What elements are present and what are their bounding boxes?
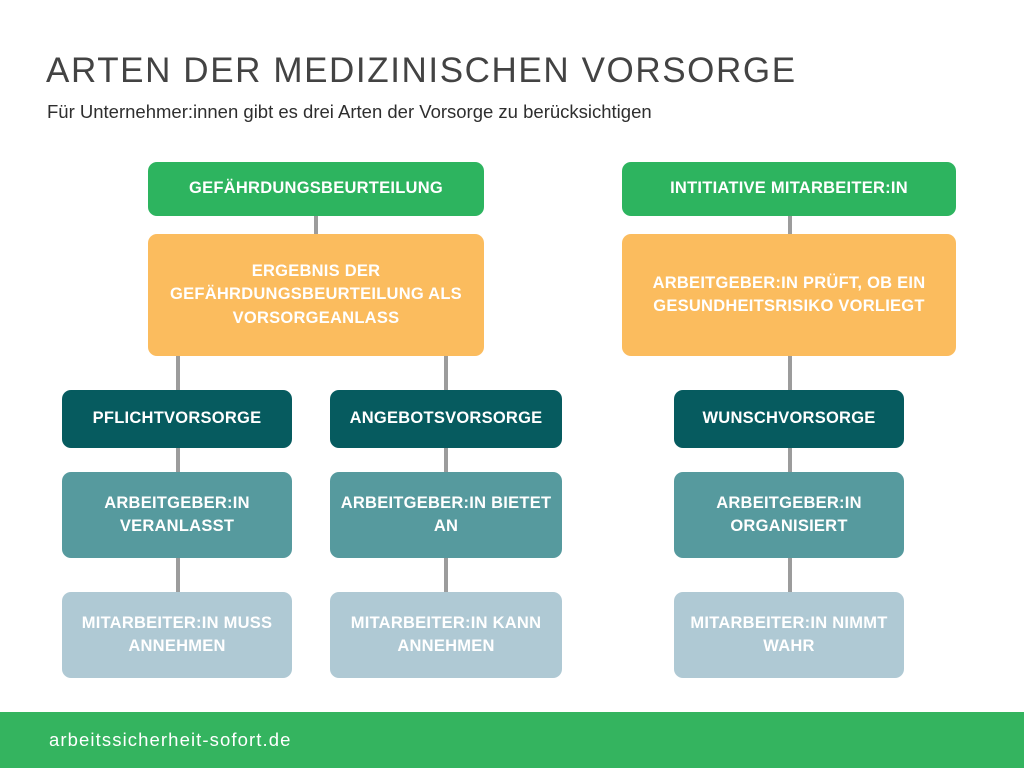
node-mitarbeiter-kann-annehmen[interactable]: MITARBEITER:IN KANN ANNEHMEN bbox=[330, 592, 562, 678]
footer-bar: arbeitssicherheit-sofort.de bbox=[0, 712, 1024, 768]
node-label: ARBEITGEBER:IN ORGANISIERT bbox=[684, 492, 894, 539]
node-arbeitgeber-veranlasst[interactable]: ARBEITGEBER:IN VERANLASST bbox=[62, 472, 292, 558]
node-label: ARBEITGEBER:IN VERANLASST bbox=[72, 492, 282, 539]
connector-arbeitgeber-bietet-an-to-mitarbeiter-kann bbox=[444, 556, 448, 592]
footer-website-label[interactable]: arbeitssicherheit-sofort.de bbox=[49, 729, 292, 751]
infographic-canvas: ARTEN DER MEDIZINISCHEN VORSORGE Für Unt… bbox=[0, 0, 1024, 768]
node-label: MITARBEITER:IN MUSS ANNEHMEN bbox=[72, 612, 282, 659]
node-arbeitgeber-bietet-an[interactable]: ARBEITGEBER:IN BIETET AN bbox=[330, 472, 562, 558]
node-label: GEFÄHRDUNGSBEURTEILUNG bbox=[189, 177, 443, 200]
node-gefaehrdungsbeurteilung[interactable]: GEFÄHRDUNGSBEURTEILUNG bbox=[148, 162, 484, 216]
node-label: WUNSCHVORSORGE bbox=[702, 407, 875, 430]
node-arbeitgeber-prueft-gesundheitsrisiko[interactable]: ARBEITGEBER:IN PRÜFT, OB EIN GESUNDHEITS… bbox=[622, 234, 956, 356]
connector-arbeitgeber-organisiert-to-mitarbeiter-nimmt-wahr bbox=[788, 556, 792, 592]
node-intitiative-mitarbeiter[interactable]: INTITIATIVE MITARBEITER:IN bbox=[622, 162, 956, 216]
connector-ergebnis-to-angebotsvorsorge bbox=[444, 354, 448, 390]
page-subtitle: Für Unternehmer:innen gibt es drei Arten… bbox=[47, 101, 652, 123]
page-title: ARTEN DER MEDIZINISCHEN VORSORGE bbox=[46, 52, 797, 90]
connector-arbeitgeber-veranlasst-to-mitarbeiter-muss bbox=[176, 556, 180, 592]
node-label: ANGEBOTSVORSORGE bbox=[350, 407, 543, 430]
node-label: INTITIATIVE MITARBEITER:IN bbox=[670, 177, 908, 200]
node-label: PFLICHTVORSORGE bbox=[93, 407, 262, 430]
node-label: ERGEBNIS DER GEFÄHRDUNGSBEURTEILUNG ALS … bbox=[158, 260, 474, 330]
node-label: ARBEITGEBER:IN PRÜFT, OB EIN GESUNDHEITS… bbox=[632, 272, 946, 319]
node-pflichtvorsorge[interactable]: PFLICHTVORSORGE bbox=[62, 390, 292, 448]
connector-arbeitgeber-prueft-to-wunschvorsorge bbox=[788, 354, 792, 390]
node-label: MITARBEITER:IN KANN ANNEHMEN bbox=[340, 612, 552, 659]
connector-ergebnis-to-pflichtvorsorge bbox=[176, 354, 180, 390]
node-ergebnis-der-gefaehrdungsbeurteilung[interactable]: ERGEBNIS DER GEFÄHRDUNGSBEURTEILUNG ALS … bbox=[148, 234, 484, 356]
node-angebotsvorsorge[interactable]: ANGEBOTSVORSORGE bbox=[330, 390, 562, 448]
connector-wunschvorsorge-to-arbeitgeber-organisiert bbox=[788, 446, 792, 474]
connector-angebotsvorsorge-to-arbeitgeber-bietet-an bbox=[444, 446, 448, 474]
connector-pflichtvorsorge-to-arbeitgeber-veranlasst bbox=[176, 446, 180, 474]
node-mitarbeiter-muss-annehmen[interactable]: MITARBEITER:IN MUSS ANNEHMEN bbox=[62, 592, 292, 678]
node-label: MITARBEITER:IN NIMMT WAHR bbox=[684, 612, 894, 659]
node-mitarbeiter-nimmt-wahr[interactable]: MITARBEITER:IN NIMMT WAHR bbox=[674, 592, 904, 678]
node-label: ARBEITGEBER:IN BIETET AN bbox=[340, 492, 552, 539]
node-wunschvorsorge[interactable]: WUNSCHVORSORGE bbox=[674, 390, 904, 448]
node-arbeitgeber-organisiert[interactable]: ARBEITGEBER:IN ORGANISIERT bbox=[674, 472, 904, 558]
